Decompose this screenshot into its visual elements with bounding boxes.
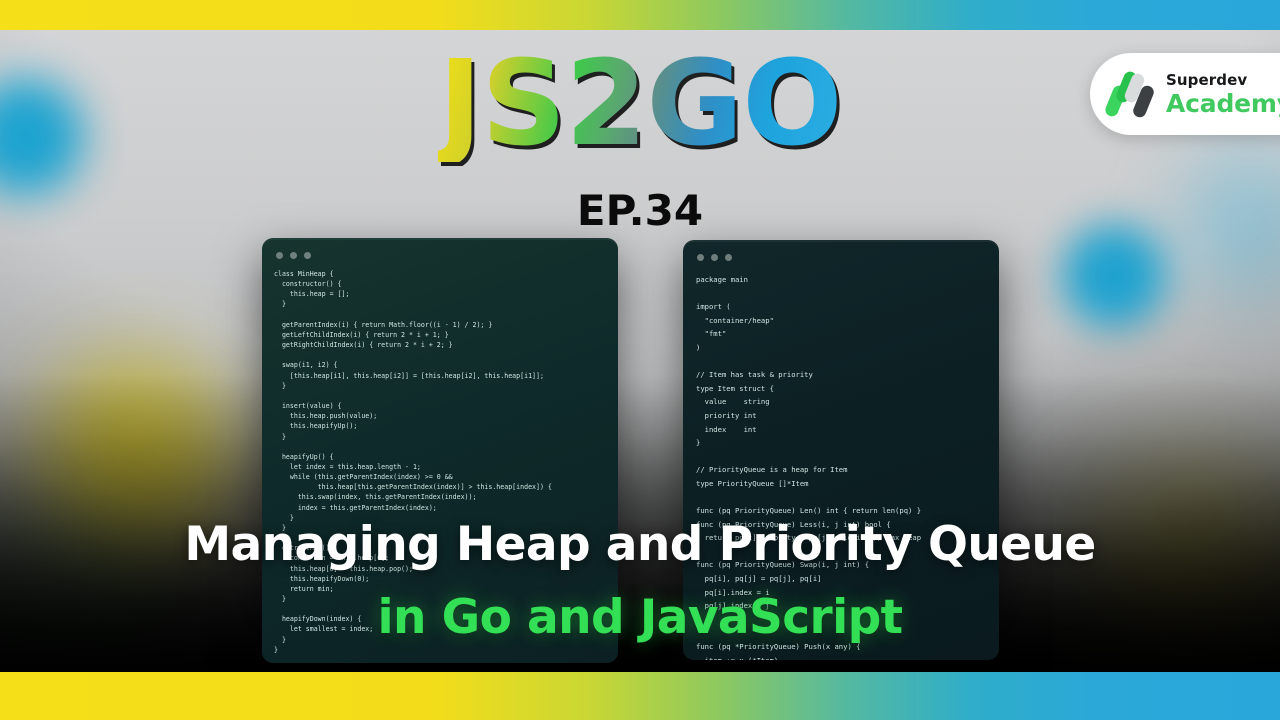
superdev-logo-mark-icon bbox=[1106, 69, 1156, 119]
window-dots-javascript bbox=[262, 248, 618, 259]
window-dots-go bbox=[683, 250, 999, 261]
brand-text: Superdev Academy bbox=[1166, 73, 1280, 116]
close-dot bbox=[697, 254, 704, 261]
bottom-gradient-bar bbox=[0, 672, 1280, 720]
maximize-dot bbox=[725, 254, 732, 261]
minimize-dot bbox=[290, 252, 297, 259]
top-gradient-bar bbox=[0, 0, 1280, 30]
series-logo-text: JS2GO bbox=[438, 44, 841, 162]
brand-badge: Superdev Academy bbox=[1090, 53, 1280, 135]
headline-line-2: in Go and JavaScript bbox=[0, 589, 1280, 647]
maximize-dot bbox=[304, 252, 311, 259]
minimize-dot bbox=[711, 254, 718, 261]
episode-label: EP.34 bbox=[0, 186, 1280, 235]
thumbnail-canvas: class MinHeap { constructor() { this.hea… bbox=[0, 0, 1280, 720]
brand-name-top: Superdev bbox=[1166, 73, 1280, 88]
close-dot bbox=[276, 252, 283, 259]
headline-line-1: Managing Heap and Priority Queue bbox=[0, 516, 1280, 574]
series-logo: JS2GO bbox=[0, 44, 1280, 162]
brand-name-bottom: Academy bbox=[1166, 91, 1280, 116]
